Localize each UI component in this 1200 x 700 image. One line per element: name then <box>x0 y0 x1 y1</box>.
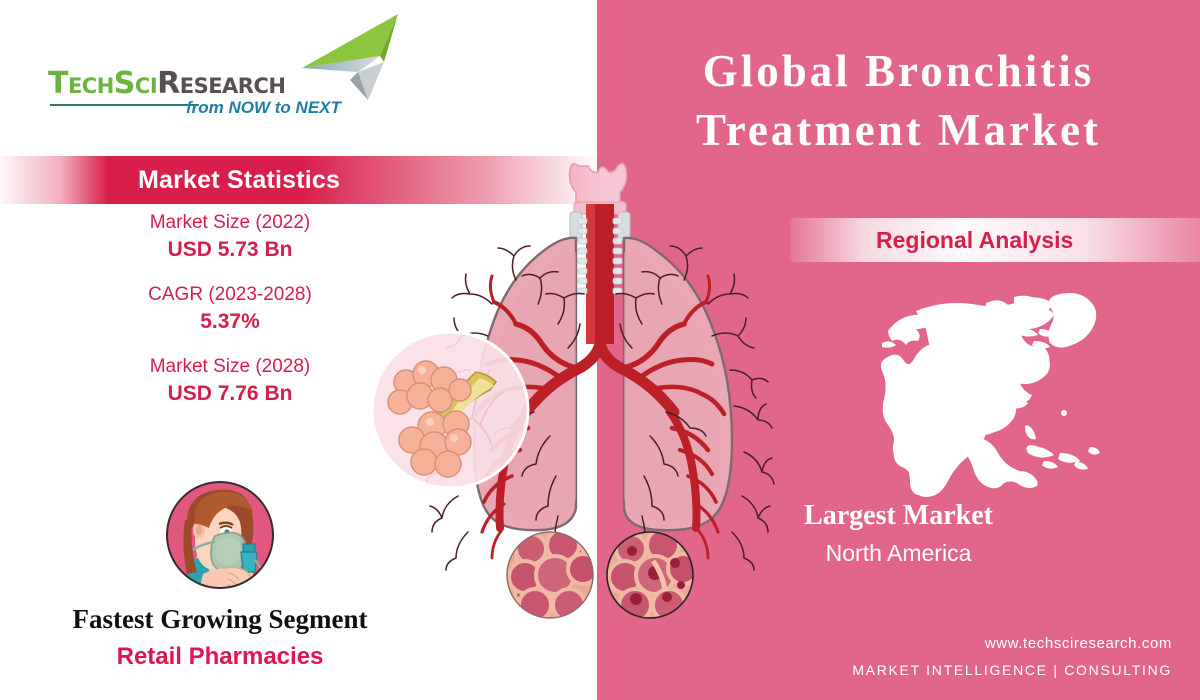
footer-website-url[interactable]: www.techsciresearch.com <box>852 635 1172 652</box>
infographic-canvas: TechSciResearch from NOW to NEXT <box>0 0 1200 700</box>
largest-market-block: Largest Market North America <box>597 500 1200 567</box>
logo-techsci-text: TechSci <box>48 66 157 101</box>
footer: www.techsciresearch.com MARKET INTELLIGE… <box>852 635 1172 678</box>
fastest-growing-segment-heading: Fastest Growing Segment <box>0 604 440 635</box>
largest-market-heading: Largest Market <box>597 500 1200 532</box>
largest-market-value: North America <box>597 540 1200 567</box>
logo-wordmark: TechSciResearch <box>48 66 285 101</box>
market-statistics-banner: Market Statistics <box>0 156 600 204</box>
footer-tagline: MARKET INTELLIGENCE | CONSULTING <box>852 662 1172 678</box>
stat-value: USD 7.76 Bn <box>0 382 460 406</box>
stat-label: Market Size (2022) <box>0 212 460 234</box>
stat-block-cagr: CAGR (2023-2028) 5.37% <box>0 284 460 334</box>
fastest-growing-segment-value: Retail Pharmacies <box>0 643 440 671</box>
paper-plane-icon <box>280 10 400 110</box>
fastest-growing-segment-block: Fastest Growing Segment Retail Pharmacie… <box>0 480 440 671</box>
logo-research-text: Research <box>157 66 285 101</box>
stat-value: 5.37% <box>0 310 460 334</box>
stat-label: CAGR (2023-2028) <box>0 284 460 306</box>
regional-analysis-title: Regional Analysis <box>876 227 1073 254</box>
regional-analysis-banner: Regional Analysis <box>790 218 1200 262</box>
market-statistics-list: Market Size (2022) USD 5.73 Bn CAGR (202… <box>0 212 460 406</box>
north-america-map-icon <box>880 285 1130 500</box>
brand-logo[interactable]: TechSciResearch from NOW to NEXT <box>48 48 348 116</box>
healthy-tissue-cells-icon <box>507 529 598 621</box>
stat-label: Market Size (2028) <box>0 356 460 378</box>
logo-underline-divider <box>50 104 198 106</box>
page-title: Global Bronchitis Treatment Market <box>597 42 1200 161</box>
stat-value: USD 5.73 Bn <box>0 238 460 262</box>
market-statistics-title: Market Statistics <box>138 166 340 195</box>
patient-oxygen-mask-icon <box>165 480 275 590</box>
stat-block-market-size-2022: Market Size (2022) USD 5.73 Bn <box>0 212 460 262</box>
logo-tagline: from NOW to NEXT <box>186 98 341 118</box>
stat-block-market-size-2028: Market Size (2028) USD 7.76 Bn <box>0 356 460 406</box>
